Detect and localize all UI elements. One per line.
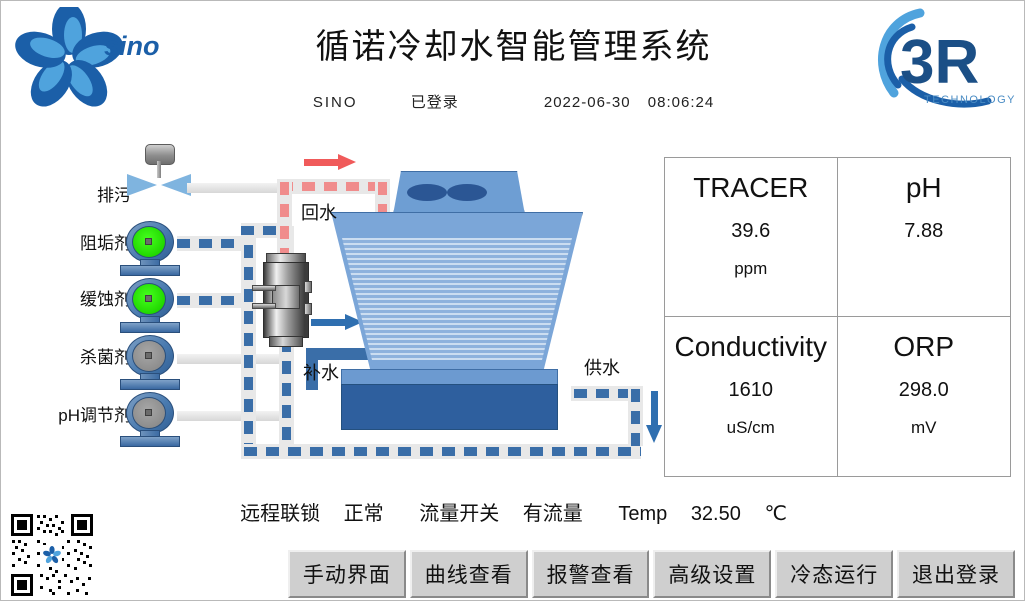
arrow-supply-flow: [649, 391, 659, 445]
qr-code[interactable]: [9, 512, 95, 598]
pump-base-icon: [120, 322, 180, 333]
alarm-view-button[interactable]: 报警查看: [532, 550, 650, 598]
pump-corrosion-inhibitor[interactable]: [118, 278, 180, 330]
label-return-water: 回水: [301, 199, 337, 225]
pump-base-icon: [120, 436, 180, 447]
label-supply-water: 供水: [584, 354, 620, 380]
readout-unit: uS/cm: [727, 418, 775, 438]
readout-unit: mV: [911, 418, 937, 438]
label-blowdown: 排污: [21, 181, 131, 206]
tower-basin-icon: [341, 384, 558, 430]
cold-start-button[interactable]: 冷态运行: [775, 550, 893, 598]
label-ph-adjuster: pH调节剂: [9, 401, 131, 426]
vessel-outlet-nozzle-icon: [252, 303, 276, 309]
pump-base-icon: [120, 265, 180, 276]
manual-interface-button[interactable]: 手动界面: [288, 550, 406, 598]
pump-biocide[interactable]: [118, 335, 180, 387]
arrow-return-flow: [304, 157, 358, 167]
login-state: 已登录: [411, 91, 459, 112]
valve-left-cone-icon: [127, 174, 157, 196]
pipe-flow-supply-down: [631, 389, 640, 446]
pump-ph-adjuster[interactable]: [118, 392, 180, 444]
button-bar: 手动界面 曲线查看 报警查看 高级设置 冷态运行 退出登录: [288, 550, 1015, 598]
header-status-bar: SINO 已登录 2022-06-30 08:06:24: [1, 91, 1025, 112]
pipe-flow-loop-bottom: [244, 447, 641, 456]
readout-unit: ppm: [734, 259, 767, 279]
cooling-tower[interactable]: [331, 171, 581, 421]
label-scale-inhibitor: 阻垢剂: [21, 229, 131, 254]
label-makeup-water: 补水: [303, 359, 339, 385]
logout-button[interactable]: 退出登录: [897, 550, 1015, 598]
readout-name: TRACER: [693, 172, 808, 204]
pump-shaft-icon: [145, 238, 152, 245]
trend-view-button[interactable]: 曲线查看: [410, 550, 528, 598]
tower-fill-pack-icon: [332, 238, 582, 360]
readout-name: Conductivity: [674, 331, 827, 363]
pump-scale-inhibitor[interactable]: [118, 221, 180, 273]
flow-switch-label: 流量开关: [419, 497, 499, 526]
measurement-panel: TRACER 39.6 ppm pH 7.88 Conductivity 161…: [664, 157, 1011, 477]
readout-value: 39.6: [731, 220, 770, 243]
vessel-sight-glass-icon: [272, 285, 300, 309]
readout-conductivity[interactable]: Conductivity 1610 uS/cm: [665, 317, 838, 476]
vessel-inlet-nozzle-icon: [252, 285, 276, 291]
temp-unit: ℃: [764, 501, 786, 526]
page-title: 循诺冷却水智能管理系统: [1, 19, 1025, 68]
remote-interlock-label: 远程联锁: [240, 497, 320, 526]
label-corrosion-inhibitor: 缓蚀剂: [21, 285, 131, 310]
pump-shaft-icon: [145, 409, 152, 416]
readout-value: 298.0: [899, 379, 949, 402]
current-user: SINO: [313, 94, 358, 111]
status-bar: 远程联锁 正常 流量开关 有流量 Temp 32.50 ℃: [1, 497, 1025, 526]
tower-body-icon: [331, 212, 583, 374]
system-time: 08:06:24: [648, 94, 714, 111]
tower-fan-blade-right-icon: [447, 184, 487, 201]
temp-label: Temp: [618, 503, 667, 526]
pump-shaft-icon: [145, 295, 152, 302]
pipe-ph-adjuster: [177, 411, 287, 421]
system-date: 2022-06-30: [544, 94, 631, 111]
pipe-biocide: [177, 354, 287, 364]
water-analyzer-vessel[interactable]: [260, 253, 310, 355]
readout-name: ORP: [893, 331, 954, 363]
label-biocide: 杀菌剂: [21, 343, 131, 368]
vessel-flange-upper-icon: [304, 281, 312, 293]
temp-value: 32.50: [691, 503, 741, 526]
pipe-flow-return-left: [280, 182, 289, 261]
remote-interlock-value: 正常: [344, 497, 384, 526]
pipe-flow-scale: [177, 239, 247, 248]
readout-name: pH: [906, 172, 942, 204]
readout-value: 7.88: [904, 220, 943, 243]
blowdown-valve[interactable]: [123, 144, 195, 196]
readout-orp[interactable]: ORP 298.0 mV: [838, 317, 1011, 476]
pump-base-icon: [120, 379, 180, 390]
readout-value: 1610: [729, 379, 774, 402]
readout-tracer[interactable]: TRACER 39.6 ppm: [665, 158, 838, 317]
advanced-settings-button[interactable]: 高级设置: [653, 550, 771, 598]
pump-shaft-icon: [145, 352, 152, 359]
scada-screen: sino 3R TECHNOLOGY 循诺冷却水智能管理系统 SINO 已登录 …: [0, 0, 1025, 601]
readout-ph[interactable]: pH 7.88: [838, 158, 1011, 317]
pipe-flow-loop-left: [244, 223, 253, 459]
vessel-flange-lower-icon: [304, 303, 312, 315]
flow-switch-value: 有流量: [523, 497, 583, 526]
pipe-flow-corrosion: [177, 296, 247, 305]
tower-fan-blade-left-icon: [407, 184, 447, 201]
vessel-bottom-cap-icon: [269, 336, 303, 347]
